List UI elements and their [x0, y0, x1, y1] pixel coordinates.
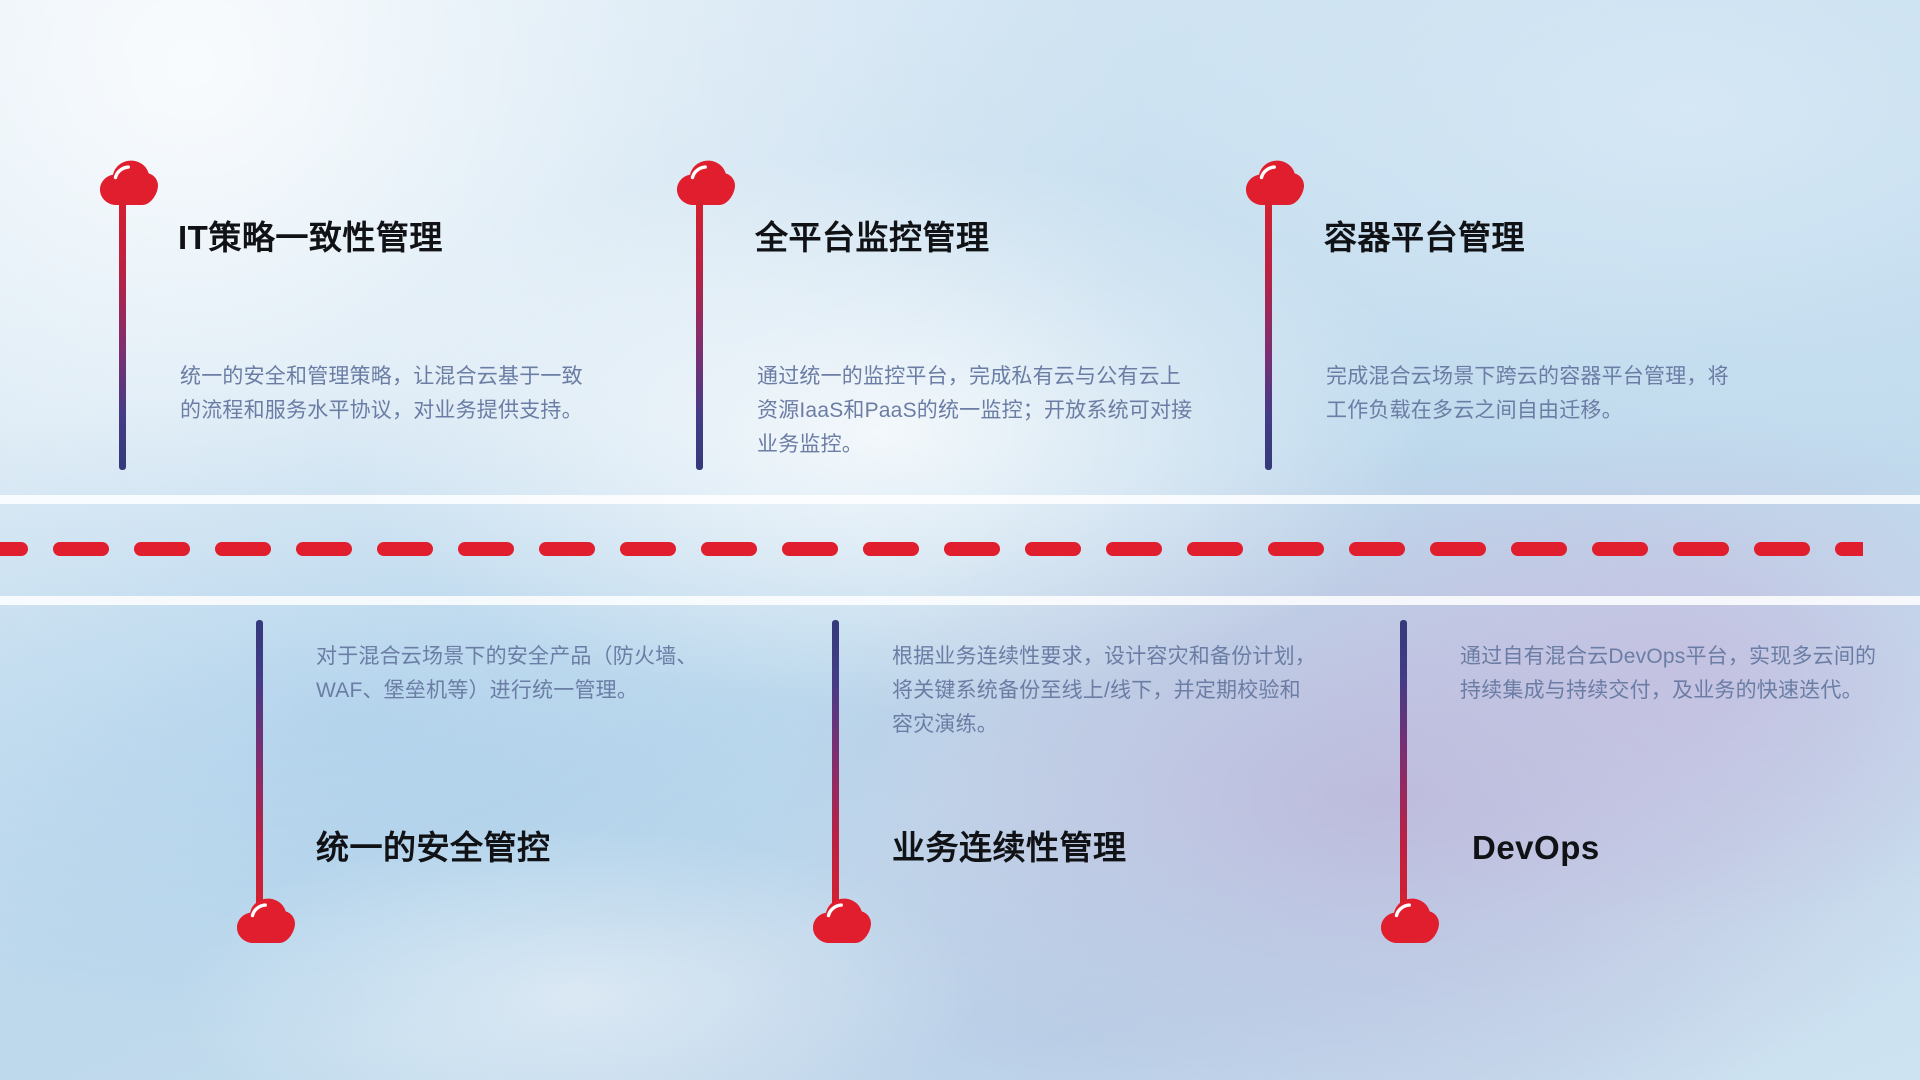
- dash-segment: [1268, 542, 1324, 556]
- item-title: 容器平台管理: [1324, 218, 1525, 258]
- dash-segment: [1673, 542, 1729, 556]
- cloud-icon: [673, 160, 735, 206]
- connector-stem: [256, 620, 263, 910]
- item-title: 统一的安全管控: [316, 828, 551, 868]
- item-title: 全平台监控管理: [755, 218, 990, 258]
- cloud-icon: [96, 160, 158, 206]
- dash-segment: [215, 542, 271, 556]
- cloud-icon: [1242, 160, 1304, 206]
- dash-segment: [377, 542, 433, 556]
- item-body: 完成混合云场景下跨云的容器平台管理，将工作负载在多云之间自由迁移。: [1326, 360, 1746, 428]
- cloud-icon: [809, 898, 871, 944]
- dash-segment: [944, 542, 1000, 556]
- connector-stem: [1265, 200, 1272, 470]
- divider-rule-bottom: [0, 596, 1920, 605]
- dash-segment: [0, 542, 28, 556]
- connector-stem: [832, 620, 839, 910]
- item-body: 统一的安全和管理策略，让混合云基于一致的流程和服务水平协议，对业务提供支持。: [180, 360, 600, 428]
- connector-stem: [696, 200, 703, 470]
- dash-segment: [1754, 542, 1810, 556]
- divider-rule-top: [0, 495, 1920, 504]
- dash-segment: [1106, 542, 1162, 556]
- dash-segment: [620, 542, 676, 556]
- dash-segment: [1349, 542, 1405, 556]
- dash-segment: [1430, 542, 1486, 556]
- cloud-icon: [1377, 898, 1439, 944]
- item-body: 根据业务连续性要求，设计容灾和备份计划，将关键系统备份至线上/线下，并定期校验和…: [892, 640, 1322, 742]
- dash-segment: [863, 542, 919, 556]
- cloud-icon: [233, 898, 295, 944]
- item-title: 业务连续性管理: [892, 828, 1127, 868]
- dash-segment: [1511, 542, 1567, 556]
- dash-segment: [1592, 542, 1648, 556]
- connector-stem: [1400, 620, 1407, 910]
- dash-segment: [134, 542, 190, 556]
- dash-segment: [539, 542, 595, 556]
- infographic-canvas: IT策略一致性管理 统一的安全和管理策略，让混合云基于一致的流程和服务水平协议，…: [0, 0, 1920, 1080]
- dash-segment: [1835, 542, 1863, 556]
- dash-segment: [782, 542, 838, 556]
- item-body: 通过统一的监控平台，完成私有云与公有云上资源IaaS和PaaS的统一监控；开放系…: [757, 360, 1197, 462]
- dash-segment: [701, 542, 757, 556]
- dash-segment: [53, 542, 109, 556]
- dash-segment: [1187, 542, 1243, 556]
- item-body: 对于混合云场景下的安全产品（防火墙、WAF、堡垒机等）进行统一管理。: [316, 640, 736, 708]
- item-title: IT策略一致性管理: [178, 218, 443, 258]
- dashed-separator: [0, 542, 1920, 556]
- dash-segment: [1025, 542, 1081, 556]
- dash-segment: [296, 542, 352, 556]
- item-title: DevOps: [1472, 828, 1600, 868]
- item-body: 通过自有混合云DevOps平台，实现多云间的持续集成与持续交付，及业务的快速迭代…: [1460, 640, 1880, 708]
- connector-stem: [119, 200, 126, 470]
- dash-segment: [458, 542, 514, 556]
